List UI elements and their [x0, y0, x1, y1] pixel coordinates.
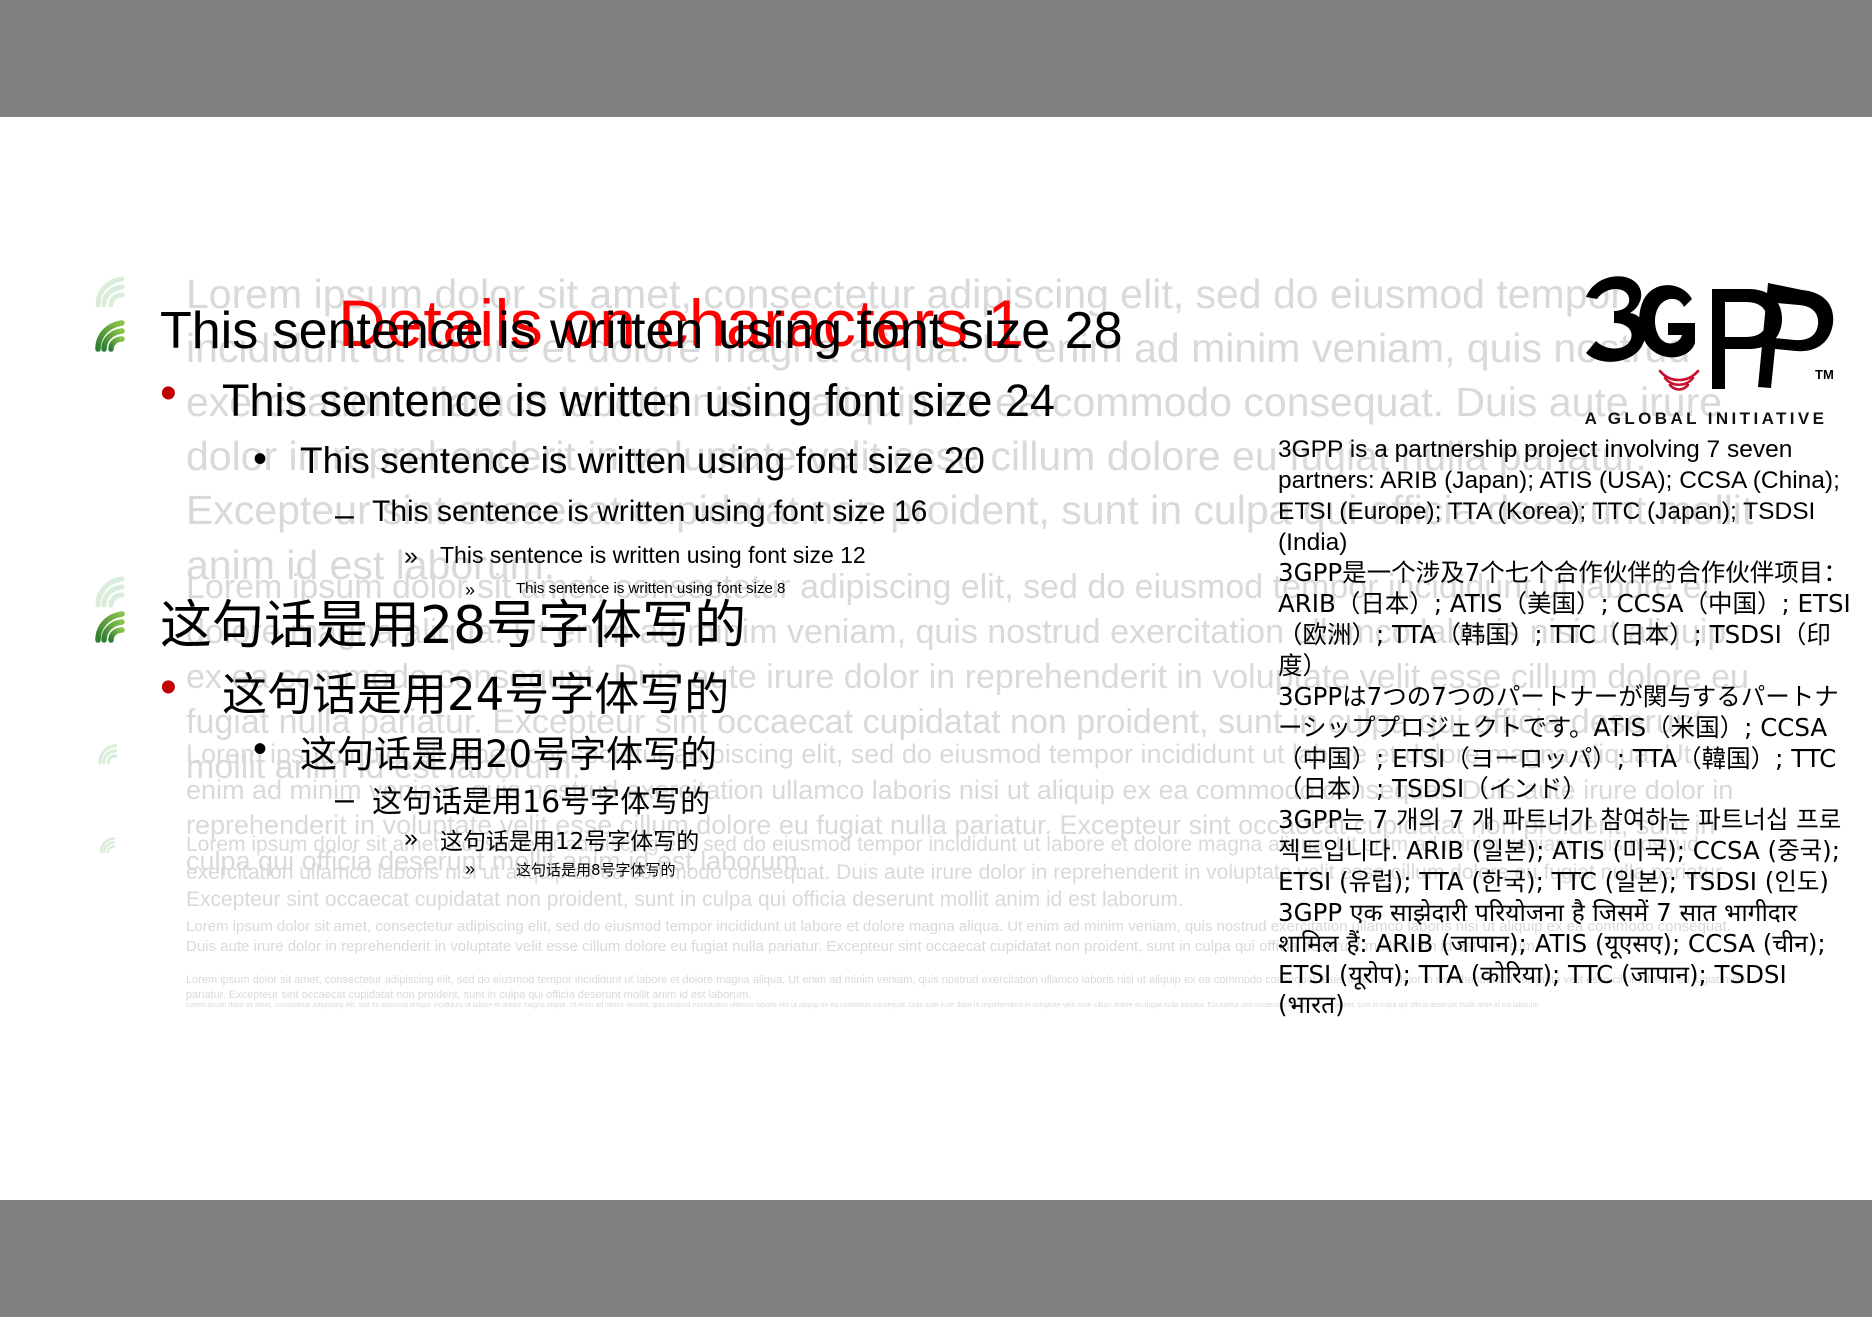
guillemet-bullet-cjk-12: » — [404, 826, 418, 851]
multilingual-ko: 3GPP는 7 개의 7 개 파트너가 참여하는 파트너십 프로젝트입니다. A… — [1278, 805, 1858, 898]
slide-content-area: Lorem ipsum dolor sit amet, consectetur … — [0, 117, 1872, 1200]
bullet-line-20: This sentence is written using font size… — [300, 440, 985, 482]
bullet-line-16: This sentence is written using font size… — [372, 495, 927, 529]
dash-bullet: – — [335, 498, 354, 532]
multilingual-ja: 3GPPは7つの7つのパートナーが関与するパートナーシッププロジェクトです。AT… — [1278, 682, 1858, 805]
dash-bullet-cjk: – — [335, 782, 354, 816]
top-letterbox-bar — [0, 0, 1872, 117]
guillemet-bullet-12: » — [404, 544, 418, 569]
bullet-line-cjk-24: 这句话是用24号字体写的 — [222, 658, 729, 723]
black-dot-bullet-cjk: • — [253, 729, 267, 769]
green-arc-icon-2 — [92, 604, 138, 644]
bullet-line-cjk-8: 这句话是用8号字体写的 — [516, 859, 676, 880]
slide-canvas: Lorem ipsum dolor sit amet, consectetur … — [0, 0, 1872, 1317]
multilingual-hi: 3GPP एक साझेदारी परियोजना है जिसमें 7 सा… — [1278, 898, 1858, 1021]
multilingual-en: 3GPP is a partnership project involving … — [1278, 435, 1858, 558]
red-dot-bullet: • — [160, 370, 177, 418]
bullet-line-28: This sentence is written using font size… — [160, 301, 1122, 361]
bottom-letterbox-bar — [0, 1200, 1872, 1317]
bullet-line-cjk-12: 这句话是用12号字体写的 — [440, 822, 699, 856]
bullet-line-cjk-16: 这句话是用16号字体写的 — [372, 777, 710, 821]
red-dot-bullet-cjk: • — [160, 664, 177, 712]
multilingual-zh: 3GPP是一个涉及7个七个合作伙伴的合作伙伴项目：ARIB（日本）; ATIS（… — [1278, 558, 1858, 681]
bullet-line-cjk-28: 这句话是用28号字体写的 — [160, 583, 746, 658]
guillemet-bullet-cjk-8: » — [465, 860, 475, 878]
green-arc-icon-1 — [92, 313, 138, 353]
bullet-line-24: This sentence is written using font size… — [222, 375, 1055, 427]
bullet-line-cjk-20: 这句话是用20号字体写的 — [300, 724, 717, 778]
bullet-line-12: This sentence is written using font size… — [440, 542, 866, 569]
black-dot-bullet: • — [253, 439, 267, 479]
multilingual-text-block: 3GPP is a partnership project involving … — [1278, 435, 1858, 1021]
